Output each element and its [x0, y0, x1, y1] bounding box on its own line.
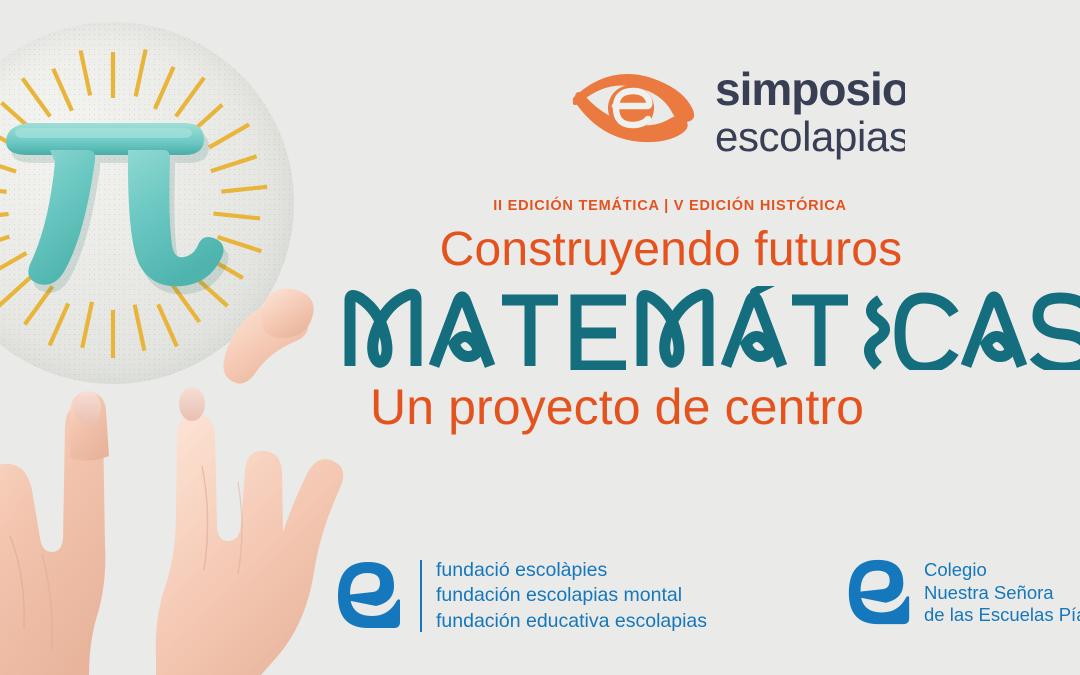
colegio-line-2: Nuestra Señora: [924, 582, 1080, 605]
fundacio-line-1: fundació escolàpies: [436, 558, 707, 583]
logo-name-secondary: escolapias: [715, 113, 905, 160]
eye-e-icon: [573, 74, 694, 142]
fundacio-line-2: fundación escolapias montal: [436, 583, 707, 608]
fundacio-line-3: fundación educativa escolapias: [436, 609, 707, 634]
colegio-line-1: Colegio: [924, 559, 1080, 582]
fundacio-names: fundació escolàpies fundación escolapias…: [436, 558, 707, 633]
colegio-names: Colegio Nuestra Señora de las Escuelas P…: [924, 559, 1080, 627]
headline-line-1: Construyendo futuros: [0, 222, 1080, 277]
headline-line-2: [344, 286, 1080, 370]
escolapias-e-icon: [332, 558, 406, 634]
colegio-logo: Colegio Nuestra Señora de las Escuelas P…: [843, 556, 1080, 630]
fundacio-escolapies-logo: fundació escolàpies fundación escolapias…: [332, 558, 707, 634]
edition-label: II EDICIÓN TEMÁTICA | V EDICIÓN HISTÓRIC…: [0, 198, 1080, 214]
promotional-banner: simposio escolapias II EDICIÓN TEMÁTICA …: [0, 0, 1080, 675]
escolapias-e-icon: [843, 556, 915, 630]
headline-block: II EDICIÓN TEMÁTICA | V EDICIÓN HISTÓRIC…: [0, 198, 1080, 468]
logo-divider: [420, 560, 422, 632]
simposio-logo: simposio escolapias: [565, 58, 905, 163]
colegio-line-3: de las Escuelas Pías: [924, 604, 1080, 627]
logo-name-primary: simposio: [715, 63, 905, 115]
headline-line-3: Un proyecto de centro: [370, 378, 1080, 436]
